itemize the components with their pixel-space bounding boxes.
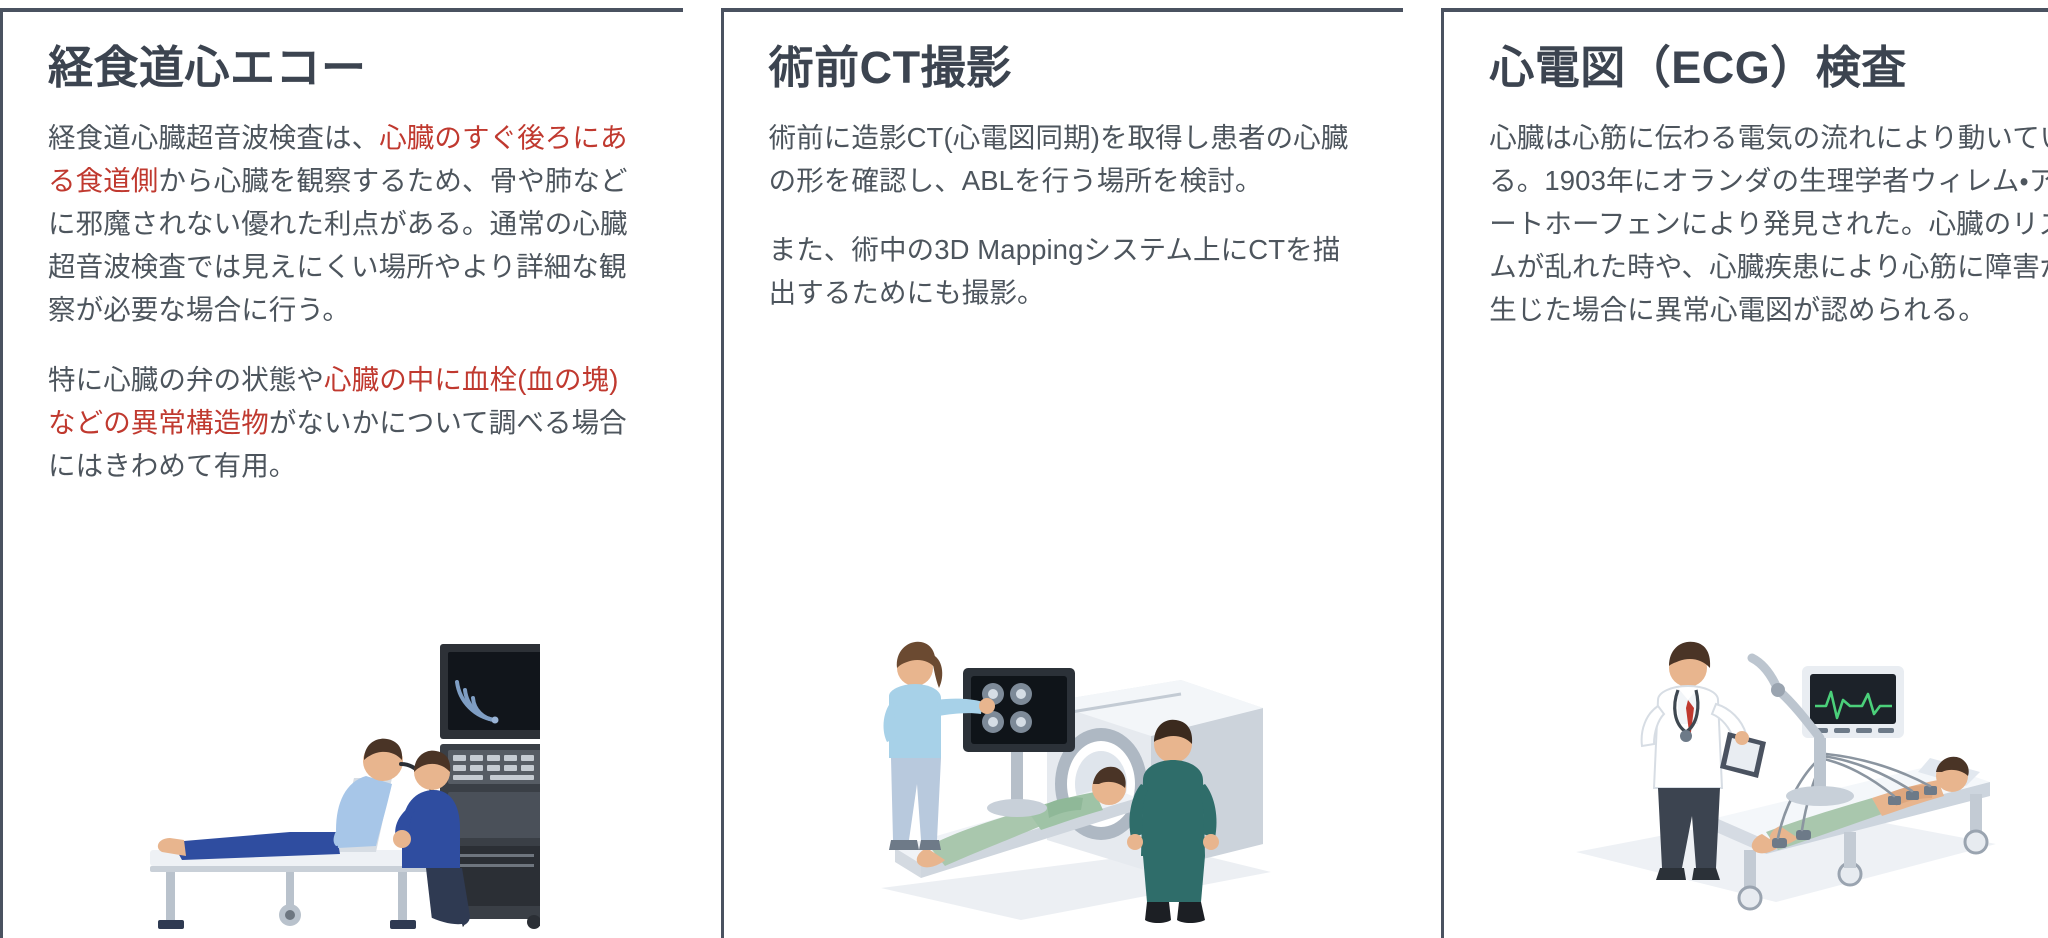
panel-title: 心電図（ECG）検査	[1489, 42, 2048, 94]
paragraph: 術前に造影CT(心電図同期)を取得し患者の心臓の形を確認し、ABLを行う場所を検…	[769, 116, 1354, 202]
text-run: 術前に造影CT(心電図同期)を取得し患者の心臓の形を確認し、ABLを行う場所を検…	[769, 122, 1349, 196]
panel-electrocardiogram: 心電図（ECG）検査 心臓は心筋に伝わる電気の流れにより動いている。1903年に…	[1441, 8, 2048, 938]
text-run: また、術中の3D Mappingシステム上にCTを描出するためにも撮影。	[769, 234, 1341, 308]
panel-board: 経食道心エコー 経食道心臓超音波検査は、心臓のすぐ後ろにある食道側から心臓を観察…	[0, 0, 2048, 938]
paragraph: 特に心臓の弁の状態や心臓の中に血栓(血の塊)などの異常構造物がないかについて調べ…	[48, 358, 633, 488]
panel-transesophageal-echocardiography: 経食道心エコー 経食道心臓超音波検査は、心臓のすぐ後ろにある食道側から心臓を観察…	[0, 8, 683, 938]
ct-scanner-illustration	[851, 572, 1271, 932]
illustration-container	[48, 632, 663, 938]
panel-preoperative-ct: 術前CT撮影 術前に造影CT(心電図同期)を取得し患者の心臓の形を確認し、ABL…	[721, 8, 1404, 938]
illustration-container	[769, 572, 1364, 938]
text-run: 特に心臓の弁の状態や	[48, 364, 324, 395]
panel-body: 経食道心臓超音波検査は、心臓のすぐ後ろにある食道側から心臓を観察するため、骨や肺…	[48, 116, 633, 487]
panel-body: 術前に造影CT(心電図同期)を取得し患者の心臓の形を確認し、ABLを行う場所を検…	[769, 116, 1354, 315]
panel-title: 術前CT撮影	[769, 42, 1354, 94]
text-run: 心臓は心筋に伝わる電気の流れにより動いている。1903年にオランダの生理学者ウィ…	[1489, 122, 2048, 326]
transesophageal-echo-illustration	[140, 632, 540, 932]
paragraph: また、術中の3D Mappingシステム上にCTを描出するためにも撮影。	[769, 228, 1354, 314]
ecg-examination-illustration	[1566, 582, 1996, 932]
panel-title: 経食道心エコー	[48, 42, 633, 94]
text-run: 経食道心臓超音波検査は、	[48, 122, 379, 153]
panel-body: 心臓は心筋に伝わる電気の流れにより動いている。1903年にオランダの生理学者ウィ…	[1489, 116, 2048, 332]
paragraph: 経食道心臓超音波検査は、心臓のすぐ後ろにある食道側から心臓を観察するため、骨や肺…	[48, 116, 633, 332]
illustration-container	[1489, 582, 2048, 938]
paragraph: 心臓は心筋に伝わる電気の流れにより動いている。1903年にオランダの生理学者ウィ…	[1489, 116, 2048, 332]
